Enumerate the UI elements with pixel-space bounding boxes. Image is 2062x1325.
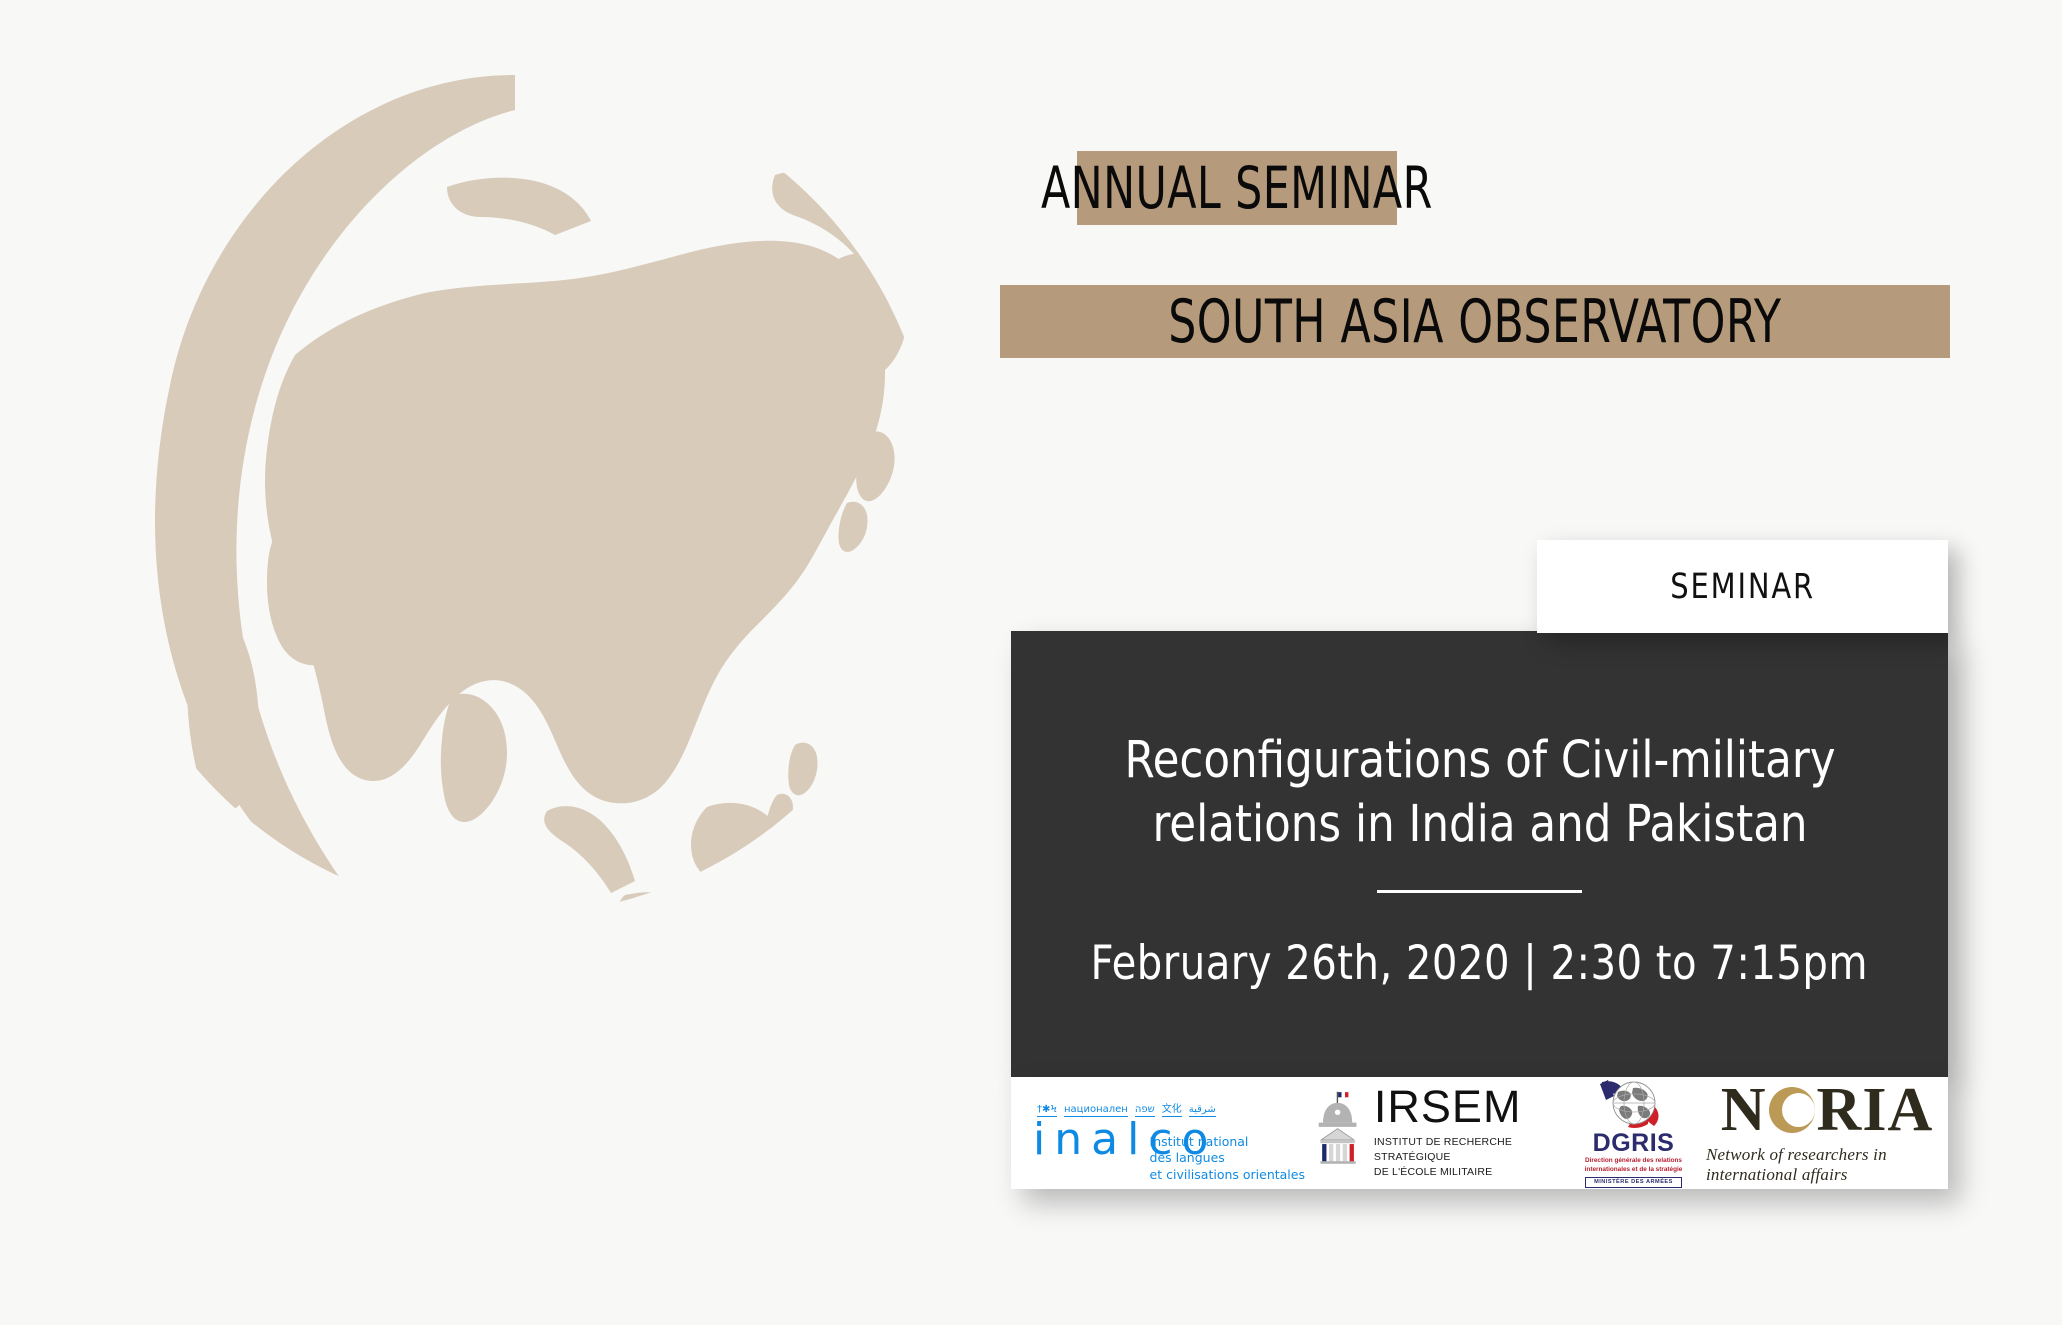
irsem-dome-building-icon: [1311, 1090, 1366, 1176]
event-datetime: February 26th, 2020 | 2:30 to 7:15pm: [1091, 936, 1869, 991]
logo-noria[interactable]: N RIA Network of researchers in internat…: [1706, 1077, 1948, 1189]
inalco-subtitle-line-3: et civilisations orientales: [1150, 1167, 1305, 1184]
logo-irsem[interactable]: IRSEM INSTITUT DE RECHERCHE STRATÉGIQUE …: [1311, 1077, 1561, 1189]
headline-south-asia-observatory: SOUTH ASIA OBSERVATORY: [1168, 292, 1781, 352]
inalco-subtitle-line-2: des langues: [1150, 1150, 1305, 1167]
event-title-line-1: Reconfigurations of Civil-military: [1081, 729, 1879, 793]
dgris-tagline-line-2: internationales et de la stratégie: [1585, 1166, 1683, 1175]
seminar-badge-label: SEMINAR: [1670, 567, 1815, 607]
noria-crescent-o-icon: [1769, 1087, 1815, 1133]
noria-wordmark: N RIA: [1721, 1081, 1933, 1140]
poster-canvas: ANNUAL SEMINAR SOUTH ASIA OBSERVATORY SE…: [0, 0, 2062, 1325]
globe-asia-icon: [95, 55, 935, 935]
seminar-type-badge: SEMINAR: [1537, 540, 1948, 633]
noria-tagline: Network of researchers in international …: [1706, 1145, 1948, 1185]
event-title: Reconfigurations of Civil-military relat…: [1081, 729, 1879, 858]
dgris-tagline: Direction générale des relations interna…: [1585, 1157, 1683, 1174]
card-divider-rule: [1377, 890, 1582, 893]
irsem-tagline: INSTITUT DE RECHERCHE STRATÉGIQUE DE L'É…: [1374, 1135, 1561, 1181]
logo-dgris[interactable]: DGRIS Direction générale des relations i…: [1561, 1077, 1706, 1189]
dgris-wordmark: DGRIS: [1593, 1131, 1675, 1156]
irsem-tagline-line-2: DE L'ÉCOLE MILITAIRE: [1374, 1165, 1561, 1180]
partner-logos-strip: †✱Ϟ национален שפה 文化 شرقية inalco Insti…: [1011, 1077, 1948, 1189]
headline-bar-south-asia-observatory: SOUTH ASIA OBSERVATORY: [1000, 285, 1950, 358]
dgris-ministry-banner: MINISTÈRE DES ARMÉES: [1585, 1177, 1682, 1188]
noria-wordmark-n: N: [1721, 1081, 1767, 1140]
irsem-wordmark: IRSEM: [1374, 1086, 1561, 1129]
headline-annual-seminar: ANNUAL SEMINAR: [1041, 159, 1433, 217]
event-title-line-2: relations in India and Pakistan: [1081, 793, 1879, 857]
dgris-tagline-line-1: Direction générale des relations: [1585, 1157, 1683, 1166]
inalco-subtitle-line-1: Institut national: [1150, 1134, 1305, 1151]
logo-inalco[interactable]: †✱Ϟ национален שפה 文化 شرقية inalco Insti…: [1011, 1077, 1311, 1189]
irsem-tagline-line-1: INSTITUT DE RECHERCHE STRATÉGIQUE: [1374, 1135, 1561, 1165]
event-details-card: Reconfigurations of Civil-military relat…: [1011, 631, 1948, 1077]
irsem-text-block: IRSEM INSTITUT DE RECHERCHE STRATÉGIQUE …: [1374, 1086, 1561, 1180]
noria-wordmark-ria: RIA: [1817, 1081, 1934, 1140]
dgris-globe-icon: [1588, 1078, 1680, 1130]
inalco-subtitle: Institut national des langues et civilis…: [1150, 1134, 1305, 1184]
headline-bar-annual-seminar: ANNUAL SEMINAR: [1077, 151, 1397, 225]
